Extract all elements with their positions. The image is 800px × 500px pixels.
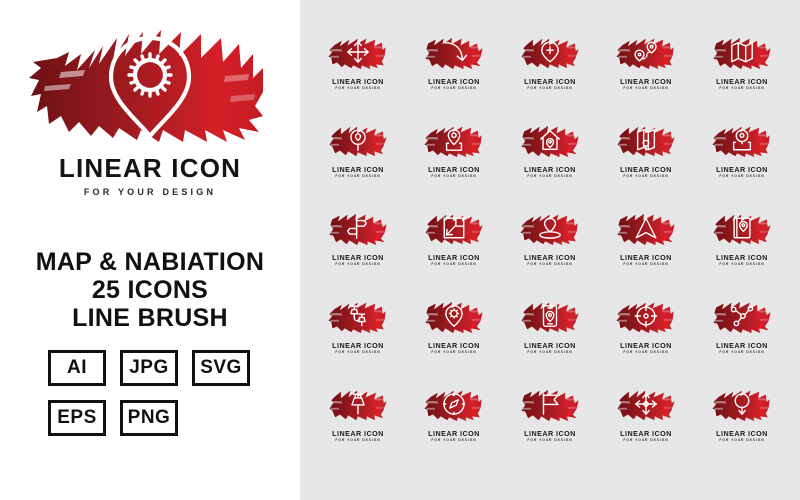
icon-cell-3[interactable]: LINEAR ICONFOR YOUR DESIGN xyxy=(502,32,598,120)
crosshair-target-icon xyxy=(615,296,677,336)
mobile-location-icon xyxy=(519,296,581,336)
icon-cell-10[interactable]: LINEAR ICONFOR YOUR DESIGN xyxy=(694,120,790,208)
icon-pack-preview: LINEAR ICON FOR YOUR DESIGN MAP & NABIAT… xyxy=(0,0,800,500)
icon-cell-1[interactable]: LINEAR ICONFOR YOUR DESIGN xyxy=(310,32,406,120)
brush-stroke xyxy=(327,384,389,424)
icon-cell-label: LINEAR ICON xyxy=(524,430,576,437)
brush-stroke xyxy=(615,120,677,160)
icon-cell-16[interactable]: LINEAR ICONFOR YOUR DESIGN xyxy=(310,296,406,384)
brush-stroke xyxy=(327,296,389,336)
icon-cell-label: LINEAR ICON xyxy=(332,254,384,261)
icon-cell-sublabel: FOR YOUR DESIGN xyxy=(623,351,668,354)
brush-stroke xyxy=(519,32,581,72)
brush-stroke xyxy=(519,296,581,336)
pack-title: MAP & NABIATION 25 ICONS LINE BRUSH xyxy=(0,248,300,332)
icon-cell-label: LINEAR ICON xyxy=(716,78,768,85)
logo-subtitle: FOR YOUR DESIGN xyxy=(0,187,300,197)
icon-cell-label: LINEAR ICON xyxy=(332,78,384,85)
brush-stroke xyxy=(711,296,773,336)
icon-cell-sublabel: FOR YOUR DESIGN xyxy=(335,263,380,266)
icon-cell-sublabel: FOR YOUR DESIGN xyxy=(335,351,380,354)
move-four-way-arrows-icon xyxy=(615,384,677,424)
icon-cell-label: LINEAR ICON xyxy=(428,78,480,85)
icon-cell-sublabel: FOR YOUR DESIGN xyxy=(719,439,764,442)
brush-stroke xyxy=(519,120,581,160)
icon-cell-label: LINEAR ICON xyxy=(428,430,480,437)
icon-cell-sublabel: FOR YOUR DESIGN xyxy=(719,351,764,354)
brush-stroke xyxy=(327,32,389,72)
icon-cell-23[interactable]: LINEAR ICONFOR YOUR DESIGN xyxy=(502,384,598,472)
brush-stroke xyxy=(423,208,485,248)
brush-stroke xyxy=(423,32,485,72)
icon-cell-sublabel: FOR YOUR DESIGN xyxy=(527,87,572,90)
folded-map-icon xyxy=(711,32,773,72)
icon-cell-7[interactable]: LINEAR ICONFOR YOUR DESIGN xyxy=(406,120,502,208)
pin-balloon-marker-icon xyxy=(327,120,389,160)
format-badges: AI JPG SVG EPS PNG xyxy=(0,350,300,450)
icon-cell-sublabel: FOR YOUR DESIGN xyxy=(527,351,572,354)
icon-cell-label: LINEAR ICON xyxy=(716,342,768,349)
format-badge-svg: SVG xyxy=(192,350,250,386)
pack-title-line-2: 25 ICONS xyxy=(0,276,300,304)
icon-cell-6[interactable]: LINEAR ICONFOR YOUR DESIGN xyxy=(310,120,406,208)
icon-cell-label: LINEAR ICON xyxy=(620,430,672,437)
route-two-pins-icon xyxy=(615,32,677,72)
icon-cell-sublabel: FOR YOUR DESIGN xyxy=(623,263,668,266)
icon-cell-sublabel: FOR YOUR DESIGN xyxy=(623,439,668,442)
icon-cell-11[interactable]: LINEAR ICONFOR YOUR DESIGN xyxy=(310,208,406,296)
icon-cell-sublabel: FOR YOUR DESIGN xyxy=(623,87,668,90)
icon-cell-17[interactable]: LINEAR ICONFOR YOUR DESIGN xyxy=(406,296,502,384)
icon-cell-label: LINEAR ICON xyxy=(428,342,480,349)
map-fold-pin-icon xyxy=(615,120,677,160)
icon-cell-label: LINEAR ICON xyxy=(716,430,768,437)
pin-location-badge-icon xyxy=(423,120,485,160)
icon-cell-sublabel: FOR YOUR DESIGN xyxy=(335,439,380,442)
brush-stroke xyxy=(711,384,773,424)
icon-cell-sublabel: FOR YOUR DESIGN xyxy=(431,439,476,442)
brush-stroke xyxy=(423,384,485,424)
icon-cell-2[interactable]: LINEAR ICONFOR YOUR DESIGN xyxy=(406,32,502,120)
icon-cell-14[interactable]: LINEAR ICONFOR YOUR DESIGN xyxy=(598,208,694,296)
icon-cell-sublabel: FOR YOUR DESIGN xyxy=(431,263,476,266)
brush-stroke xyxy=(615,296,677,336)
curved-down-arrow-icon xyxy=(423,32,485,72)
format-row-2: EPS PNG xyxy=(0,400,300,436)
brush-stroke xyxy=(423,296,485,336)
icon-cell-20[interactable]: LINEAR ICONFOR YOUR DESIGN xyxy=(694,296,790,384)
icon-cell-22[interactable]: LINEAR ICONFOR YOUR DESIGN xyxy=(406,384,502,472)
icon-cell-sublabel: FOR YOUR DESIGN xyxy=(527,263,572,266)
anchor-circle-arrow-icon xyxy=(711,384,773,424)
flag-marker-icon xyxy=(519,384,581,424)
brush-stroke xyxy=(327,208,389,248)
two-push-pins-icon xyxy=(327,296,389,336)
icon-cell-4[interactable]: LINEAR ICONFOR YOUR DESIGN xyxy=(598,32,694,120)
signpost-direction-icon xyxy=(327,208,389,248)
brush-stroke xyxy=(615,208,677,248)
icon-cell-label: LINEAR ICON xyxy=(524,78,576,85)
format-badge-jpg: JPG xyxy=(120,350,178,386)
brush-stroke xyxy=(615,384,677,424)
resize-diagonal-arrow-icon xyxy=(423,208,485,248)
icon-cell-19[interactable]: LINEAR ICONFOR YOUR DESIGN xyxy=(598,296,694,384)
icon-cell-label: LINEAR ICON xyxy=(332,430,384,437)
logo-brush-stroke xyxy=(25,20,275,145)
pin-on-platform-icon xyxy=(519,208,581,248)
brush-stroke xyxy=(519,208,581,248)
format-row-1: AI JPG SVG xyxy=(0,350,300,386)
map-pin-add-icon xyxy=(519,32,581,72)
icon-grid: LINEAR ICONFOR YOUR DESIGNLINEAR ICONFOR… xyxy=(310,32,790,472)
icon-cell-label: LINEAR ICON xyxy=(428,254,480,261)
icon-cell-9[interactable]: LINEAR ICONFOR YOUR DESIGN xyxy=(598,120,694,208)
brush-stroke xyxy=(519,384,581,424)
brush-stroke xyxy=(423,120,485,160)
icon-cell-label: LINEAR ICON xyxy=(716,254,768,261)
icon-cell-sublabel: FOR YOUR DESIGN xyxy=(431,175,476,178)
pack-title-line-3: LINE BRUSH xyxy=(0,304,300,332)
pack-title-line-1: MAP & NABIATION xyxy=(0,248,300,276)
icon-cell-sublabel: FOR YOUR DESIGN xyxy=(335,175,380,178)
icon-cell-sublabel: FOR YOUR DESIGN xyxy=(431,351,476,354)
icon-cell-18[interactable]: LINEAR ICONFOR YOUR DESIGN xyxy=(502,296,598,384)
route-nodes-network-icon xyxy=(711,296,773,336)
icon-cell-label: LINEAR ICON xyxy=(716,166,768,173)
icon-cell-sublabel: FOR YOUR DESIGN xyxy=(527,175,572,178)
icon-cell-label: LINEAR ICON xyxy=(620,166,672,173)
move-vertical-horizontal-arrows-icon xyxy=(327,32,389,72)
icon-cell-label: LINEAR ICON xyxy=(332,342,384,349)
format-badge-eps: EPS xyxy=(48,400,106,436)
icon-cell-label: LINEAR ICON xyxy=(524,342,576,349)
icon-cell-12[interactable]: LINEAR ICONFOR YOUR DESIGN xyxy=(406,208,502,296)
icon-cell-sublabel: FOR YOUR DESIGN xyxy=(719,263,764,266)
icon-cell-sublabel: FOR YOUR DESIGN xyxy=(623,175,668,178)
left-panel: LINEAR ICON FOR YOUR DESIGN MAP & NABIAT… xyxy=(0,0,300,500)
push-pin-icon xyxy=(327,384,389,424)
compass-icon xyxy=(423,384,485,424)
icon-cell-sublabel: FOR YOUR DESIGN xyxy=(719,87,764,90)
icon-cell-label: LINEAR ICON xyxy=(620,254,672,261)
navigation-arrow-icon xyxy=(615,208,677,248)
brush-stroke xyxy=(711,32,773,72)
icon-cell-sublabel: FOR YOUR DESIGN xyxy=(719,175,764,178)
brush-stroke xyxy=(711,208,773,248)
format-badge-png: PNG xyxy=(120,400,178,436)
brush-stroke xyxy=(711,120,773,160)
right-panel: LINEAR ICONFOR YOUR DESIGNLINEAR ICONFOR… xyxy=(300,0,800,500)
icon-cell-sublabel: FOR YOUR DESIGN xyxy=(431,87,476,90)
icon-cell-13[interactable]: LINEAR ICONFOR YOUR DESIGN xyxy=(502,208,598,296)
icon-cell-label: LINEAR ICON xyxy=(620,342,672,349)
icon-cell-25[interactable]: LINEAR ICONFOR YOUR DESIGN xyxy=(694,384,790,472)
logo-title: LINEAR ICON xyxy=(0,155,300,181)
icon-cell-24[interactable]: LINEAR ICONFOR YOUR DESIGN xyxy=(598,384,694,472)
icon-cell-sublabel: FOR YOUR DESIGN xyxy=(335,87,380,90)
format-badge-ai: AI xyxy=(48,350,106,386)
icon-cell-label: LINEAR ICON xyxy=(332,166,384,173)
icon-cell-sublabel: FOR YOUR DESIGN xyxy=(527,439,572,442)
map-pin-gear-icon xyxy=(423,296,485,336)
icon-cell-label: LINEAR ICON xyxy=(428,166,480,173)
brush-stroke xyxy=(327,120,389,160)
icon-cell-8[interactable]: LINEAR ICONFOR YOUR DESIGN xyxy=(502,120,598,208)
pin-on-card-icon xyxy=(711,120,773,160)
icon-cell-15[interactable]: LINEAR ICONFOR YOUR DESIGN xyxy=(694,208,790,296)
icon-cell-label: LINEAR ICON xyxy=(524,166,576,173)
brush-stroke xyxy=(615,32,677,72)
icon-cell-label: LINEAR ICON xyxy=(524,254,576,261)
map-book-pin-icon xyxy=(711,208,773,248)
icon-cell-label: LINEAR ICON xyxy=(620,78,672,85)
home-location-icon xyxy=(519,120,581,160)
icon-cell-21[interactable]: LINEAR ICONFOR YOUR DESIGN xyxy=(310,384,406,472)
logo-block: LINEAR ICON FOR YOUR DESIGN xyxy=(0,20,300,197)
icon-cell-5[interactable]: LINEAR ICONFOR YOUR DESIGN xyxy=(694,32,790,120)
